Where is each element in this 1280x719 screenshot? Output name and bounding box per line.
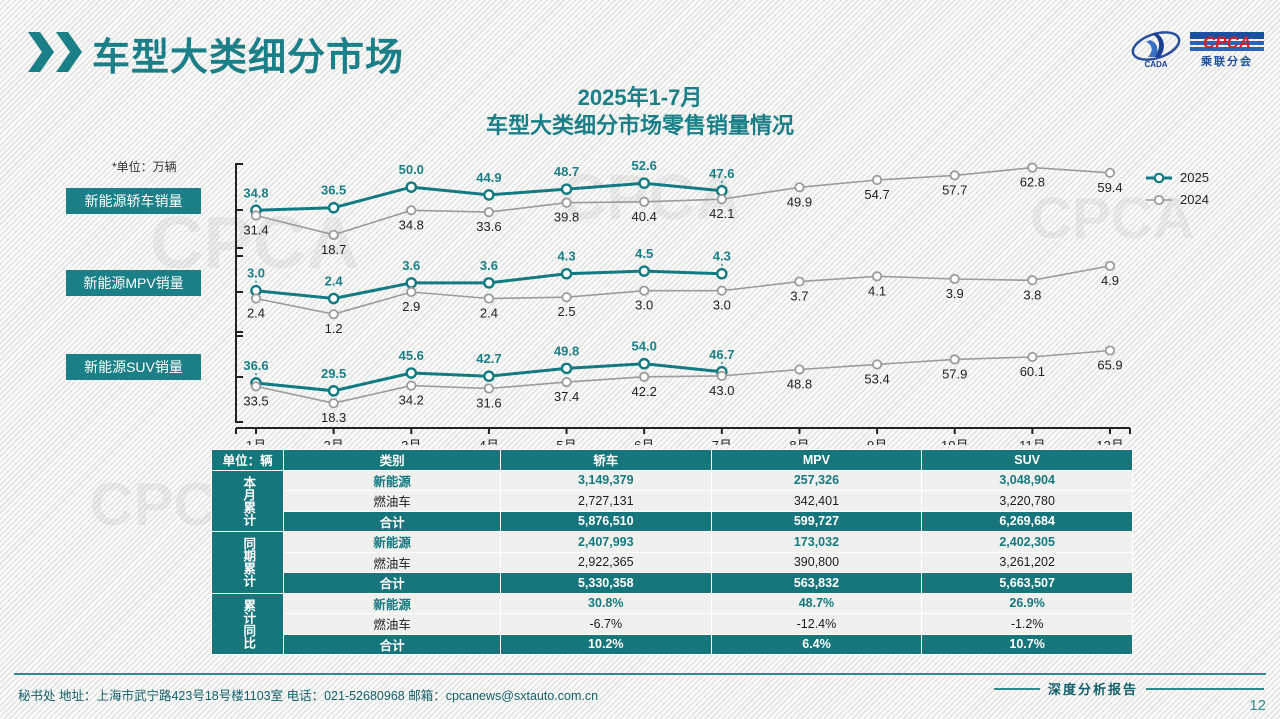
data-point-2024 — [1106, 169, 1114, 177]
table-cell-value: 30.8% — [500, 593, 711, 614]
data-point-2024 — [329, 310, 337, 318]
data-point-2024 — [1106, 346, 1114, 354]
legend-label-2024: 2024 — [1180, 192, 1209, 207]
data-point-2024 — [718, 195, 726, 203]
table-cell-value: 5,330,358 — [500, 573, 711, 594]
data-point-2025 — [640, 267, 649, 276]
footer-report-label: 深度分析报告 — [1048, 679, 1138, 698]
table-cell-value: 6,269,684 — [922, 511, 1133, 532]
page-title: 车型大类细分市场 — [92, 26, 404, 81]
x-tick-label: 6月 — [634, 438, 654, 445]
data-label-2024: 33.6 — [476, 219, 501, 234]
summary-table: 单位：辆 类别 轿车 MPV SUV 本月累计新能源3,149,379257,3… — [211, 449, 1133, 655]
table-cell-value: 3,048,904 — [922, 470, 1133, 491]
table-row: 燃油车2,922,365390,8003,261,202 — [212, 552, 1133, 573]
footer-dash-right — [1146, 688, 1264, 690]
data-label-2024: 3.8 — [1023, 287, 1041, 302]
data-label-2024: 3.9 — [946, 286, 964, 301]
table-cell-value: 26.9% — [922, 593, 1133, 614]
data-point-2024 — [485, 208, 493, 216]
table-row: 燃油车-6.7%-12.4%-1.2% — [212, 614, 1133, 635]
table-cell-value: 48.7% — [711, 593, 922, 614]
data-label-2025: 3.0 — [247, 266, 265, 281]
table-cell-value: 2,402,305 — [922, 532, 1133, 553]
data-point-2024 — [795, 277, 803, 285]
data-label-2025: 34.8 — [243, 185, 268, 200]
table-cell-category: 新能源 — [284, 532, 501, 553]
slide: 车型大类细分市场 CADA CPCA 乘联分会 2025年1-7月 车型大类细分… — [0, 0, 1280, 719]
data-point-2024 — [795, 183, 803, 191]
series-line-2024 — [256, 168, 1110, 235]
data-point-2025 — [484, 372, 493, 381]
table-cell-value: 10.2% — [500, 634, 711, 655]
data-label-2025: 45.6 — [399, 348, 424, 363]
data-label-2024: 3.0 — [635, 298, 653, 313]
y-axis-bracket-1 — [236, 248, 243, 336]
multi-panel-line-chart: 34.836.550.044.948.752.647.631.418.734.8… — [0, 150, 1280, 445]
table-group-label: 同期累计 — [212, 532, 284, 594]
table-cell-category: 合计 — [284, 511, 501, 532]
data-point-2025 — [484, 190, 493, 199]
table-cell-value: 342,401 — [711, 491, 922, 512]
data-label-2024: 37.4 — [554, 389, 579, 404]
data-point-2025 — [640, 179, 649, 188]
x-tick-label: 9月 — [867, 438, 887, 445]
data-point-2024 — [252, 382, 260, 390]
table-cell-value: 2,407,993 — [500, 532, 711, 553]
table-col-sedan: 轿车 — [500, 450, 711, 471]
data-label-2024: 1.2 — [325, 321, 343, 336]
data-label-2025: 49.8 — [554, 343, 579, 358]
data-label-2025: 50.0 — [399, 162, 424, 177]
table-cell-value: 6.4% — [711, 634, 922, 655]
data-label-2025: 52.6 — [632, 158, 657, 173]
data-point-2025 — [329, 203, 338, 212]
data-label-2024: 33.5 — [243, 393, 268, 408]
table-cell-value: 390,800 — [711, 552, 922, 573]
table-cell-value: 599,727 — [711, 511, 922, 532]
table-cell-value: 2,727,131 — [500, 491, 711, 512]
table-body: 本月累计新能源3,149,379257,3263,048,904燃油车2,727… — [212, 470, 1133, 655]
data-point-2025 — [562, 364, 571, 373]
data-point-2025 — [562, 185, 571, 194]
x-tick-label: 8月 — [789, 438, 809, 445]
data-point-2024 — [562, 378, 570, 386]
chart-area: *单位：万辆 新能源轿车销量 新能源MPV销量 新能源SUV销量 34.836.… — [0, 150, 1280, 445]
table-cell-value: 173,032 — [711, 532, 922, 553]
data-point-2024 — [407, 206, 415, 214]
data-label-2024: 42.2 — [632, 384, 657, 399]
svg-text:乘联分会: 乘联分会 — [1200, 54, 1253, 68]
table-cell-category: 燃油车 — [284, 614, 501, 635]
table-cell-value: 3,149,379 — [500, 470, 711, 491]
data-point-2025 — [407, 183, 416, 192]
data-point-2024 — [1028, 163, 1036, 171]
data-label-2025: 3.6 — [480, 258, 498, 273]
table-row: 合计5,876,510599,7276,269,684 — [212, 511, 1133, 532]
data-label-2025: 48.7 — [554, 164, 579, 179]
data-label-2024: 2.4 — [247, 306, 265, 321]
y-axis-bracket-0 — [236, 164, 243, 256]
table-cell-value: -6.7% — [500, 614, 711, 635]
data-label-2024: 65.9 — [1097, 358, 1122, 373]
table-col-category: 类别 — [284, 450, 501, 471]
cpca-logo: CADA CPCA 乘联分会 — [1130, 26, 1266, 72]
data-point-2025 — [484, 278, 493, 287]
table-cell-value: 5,663,507 — [922, 573, 1133, 594]
data-point-2024 — [562, 198, 570, 206]
data-label-2024: 3.7 — [790, 289, 808, 304]
data-label-2025: 47.6 — [709, 166, 734, 181]
footer-contact: 秘书处 地址：上海市武宁路423号18号楼1103室 电话：021-526809… — [18, 685, 598, 704]
data-label-2025: 46.7 — [709, 347, 734, 362]
data-point-2024 — [485, 294, 493, 302]
data-label-2024: 43.0 — [709, 383, 734, 398]
data-label-2024: 18.3 — [321, 410, 346, 425]
table-cell-value: 563,832 — [711, 573, 922, 594]
table-col-suv: SUV — [922, 450, 1133, 471]
table-row: 燃油车2,727,131342,4013,220,780 — [212, 491, 1133, 512]
table-cell-value: 3,261,202 — [922, 552, 1133, 573]
data-point-2025 — [562, 269, 571, 278]
data-label-2024: 48.8 — [787, 376, 812, 391]
data-point-2024 — [485, 384, 493, 392]
data-point-2024 — [795, 365, 803, 373]
data-label-2024: 2.9 — [402, 299, 420, 314]
data-point-2024 — [951, 171, 959, 179]
table-cell-category: 燃油车 — [284, 491, 501, 512]
data-label-2025: 4.3 — [558, 249, 576, 264]
table-row: 合计5,330,358563,8325,663,507 — [212, 573, 1133, 594]
data-label-2025: 42.7 — [476, 351, 501, 366]
data-point-2024 — [252, 294, 260, 302]
data-label-2024: 60.1 — [1020, 364, 1045, 379]
data-point-2024 — [640, 198, 648, 206]
data-point-2024 — [951, 275, 959, 283]
table-cell-value: 3,220,780 — [922, 491, 1133, 512]
series-line-2024 — [256, 351, 1110, 404]
table-group-label: 本月累计 — [212, 470, 284, 532]
table-row: 合计10.2%6.4%10.7% — [212, 634, 1133, 655]
chart-legend: 2025 2024 — [1146, 170, 1209, 207]
table-row: 累计同比新能源30.8%48.7%26.9% — [212, 593, 1133, 614]
x-tick-label: 2月 — [324, 438, 344, 445]
data-label-2025: 36.5 — [321, 183, 346, 198]
x-tick-label: 11月 — [1019, 438, 1046, 445]
legend-label-2025: 2025 — [1180, 170, 1209, 185]
data-label-2024: 3.0 — [713, 298, 731, 313]
x-tick-label: 5月 — [556, 438, 576, 445]
data-point-2024 — [951, 355, 959, 363]
data-label-2024: 34.2 — [399, 393, 424, 408]
data-point-2024 — [329, 399, 337, 407]
data-point-2025 — [717, 269, 726, 278]
x-tick-label: 4月 — [479, 438, 499, 445]
table-cell-value: 5,876,510 — [500, 511, 711, 532]
data-point-2024 — [873, 360, 881, 368]
data-point-2024 — [640, 286, 648, 294]
data-label-2024: 59.4 — [1097, 180, 1122, 195]
data-point-2024 — [252, 211, 260, 219]
page-number: 12 — [1249, 697, 1266, 714]
x-tick-label: 7月 — [712, 438, 732, 445]
table-cell-value: -12.4% — [711, 614, 922, 635]
data-point-2025 — [329, 294, 338, 303]
data-label-2025: 29.5 — [321, 366, 346, 381]
data-label-2024: 4.9 — [1101, 273, 1119, 288]
table-header-row: 单位：辆 类别 轿车 MPV SUV — [212, 450, 1133, 471]
footer-divider — [14, 673, 1266, 675]
data-label-2024: 34.8 — [399, 217, 424, 232]
table-col-mpv: MPV — [711, 450, 922, 471]
data-label-2024: 2.4 — [480, 306, 498, 321]
data-label-2025: 4.3 — [713, 249, 731, 264]
data-label-2024: 39.8 — [554, 210, 579, 225]
chart-title-line2: 车型大类细分市场零售销量情况 — [0, 112, 1280, 140]
data-point-2024 — [873, 176, 881, 184]
data-label-2024: 54.7 — [864, 187, 889, 202]
data-label-2024: 31.4 — [243, 222, 268, 237]
data-label-2024: 2.5 — [558, 304, 576, 319]
data-point-2024 — [562, 293, 570, 301]
data-label-2024: 53.4 — [864, 371, 889, 386]
table-unit-header: 单位：辆 — [212, 450, 284, 471]
slide-header: 车型大类细分市场 CADA CPCA 乘联分会 — [0, 0, 1280, 86]
footer-dash-left — [994, 688, 1040, 690]
data-point-2025 — [640, 359, 649, 368]
table-group-label: 累计同比 — [212, 593, 284, 655]
data-point-2024 — [718, 286, 726, 294]
svg-text:CADA: CADA — [1144, 60, 1167, 69]
data-point-2024 — [640, 373, 648, 381]
table-cell-category: 燃油车 — [284, 552, 501, 573]
data-point-2025 — [407, 368, 416, 377]
x-tick-label: 1月 — [246, 438, 266, 445]
data-point-2024 — [1028, 276, 1036, 284]
data-point-2025 — [407, 278, 416, 287]
data-label-2024: 31.6 — [476, 396, 501, 411]
data-point-2024 — [407, 288, 415, 296]
x-tick-label: 10月 — [941, 438, 968, 445]
data-label-2025: 54.0 — [632, 339, 657, 354]
table-cell-category: 新能源 — [284, 470, 501, 491]
table-row: 本月累计新能源3,149,379257,3263,048,904 — [212, 470, 1133, 491]
svg-text:CPCA: CPCA — [1203, 33, 1251, 52]
chart-title: 2025年1-7月 车型大类细分市场零售销量情况 — [0, 84, 1280, 139]
data-label-2024: 40.4 — [632, 209, 657, 224]
data-label-2025: 4.5 — [635, 246, 653, 261]
x-tick-label: 3月 — [401, 438, 421, 445]
y-axis-bracket-2 — [236, 332, 243, 422]
table-cell-value: 257,326 — [711, 470, 922, 491]
data-label-2025: 36.6 — [243, 358, 268, 373]
table-cell-value: -1.2% — [922, 614, 1133, 635]
double-chevron-icon — [28, 30, 82, 74]
data-point-2024 — [1028, 353, 1036, 361]
data-point-2024 — [1106, 262, 1114, 270]
table-cell-category: 合计 — [284, 634, 501, 655]
data-point-2024 — [873, 272, 881, 280]
table-cell-category: 新能源 — [284, 593, 501, 614]
chart-title-line1: 2025年1-7月 — [0, 84, 1280, 112]
data-label-2024: 57.7 — [942, 182, 967, 197]
data-point-2025 — [717, 186, 726, 195]
table-cell-value: 10.7% — [922, 634, 1133, 655]
data-label-2024: 18.7 — [321, 242, 346, 257]
data-point-2024 — [329, 231, 337, 239]
table-cell-category: 合计 — [284, 573, 501, 594]
x-tick-label: 12月 — [1096, 438, 1123, 445]
data-label-2024: 49.9 — [787, 194, 812, 209]
table-row: 同期累计新能源2,407,993173,0322,402,305 — [212, 532, 1133, 553]
data-label-2024: 42.1 — [709, 206, 734, 221]
data-label-2024: 4.1 — [868, 283, 886, 298]
slide-footer: 秘书处 地址：上海市武宁路423号18号楼1103室 电话：021-526809… — [0, 673, 1280, 719]
data-label-2025: 2.4 — [325, 274, 344, 289]
data-label-2024: 62.8 — [1020, 175, 1045, 190]
data-point-2025 — [329, 386, 338, 395]
data-label-2025: 3.6 — [402, 258, 420, 273]
data-point-2024 — [718, 372, 726, 380]
footer-report-block: 深度分析报告 — [994, 679, 1264, 698]
data-label-2025: 44.9 — [476, 170, 501, 185]
data-point-2024 — [407, 381, 415, 389]
data-label-2024: 57.9 — [942, 366, 967, 381]
table-cell-value: 2,922,365 — [500, 552, 711, 573]
